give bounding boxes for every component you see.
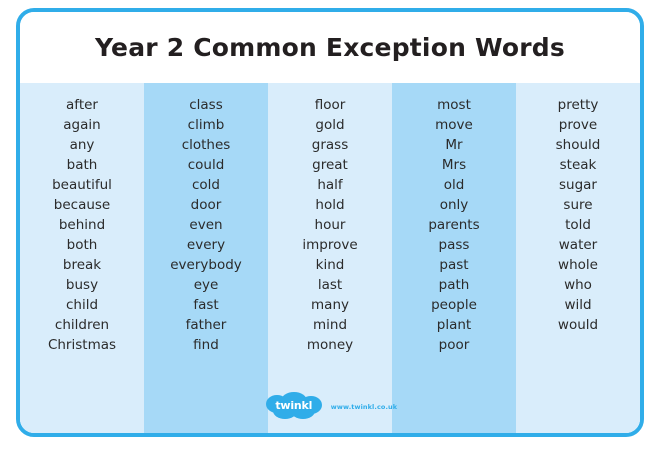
word-column-5: prettyproveshouldsteaksugarsuretoldwater… [516,83,640,433]
word-item: people [392,295,516,315]
word-item: prove [516,115,640,135]
word-item: find [144,335,268,355]
word-item: last [268,275,392,295]
word-item: most [392,95,516,115]
word-item: eye [144,275,268,295]
word-item: mind [268,315,392,335]
title-bar: Year 2 Common Exception Words [20,12,640,83]
word-item: only [392,195,516,215]
word-item: child [20,295,144,315]
word-item: floor [268,95,392,115]
word-item: parents [392,215,516,235]
word-item: money [268,335,392,355]
word-item: children [20,315,144,335]
word-item: great [268,155,392,175]
word-item: poor [392,335,516,355]
word-item: half [268,175,392,195]
word-item: steak [516,155,640,175]
word-item: past [392,255,516,275]
word-item: cold [144,175,268,195]
word-item: path [392,275,516,295]
word-item: wild [516,295,640,315]
word-item: would [516,315,640,335]
word-item: after [20,95,144,115]
word-item: busy [20,275,144,295]
word-item: water [516,235,640,255]
word-item: whole [516,255,640,275]
word-item: kind [268,255,392,275]
word-column-2: classclimbclothescouldcolddooreveneverye… [144,83,268,433]
word-column-3: floorgoldgrassgreathalfholdhourimproveki… [268,83,392,433]
word-item: fast [144,295,268,315]
word-item: hold [268,195,392,215]
word-item: plant [392,315,516,335]
word-item: old [392,175,516,195]
word-item: could [144,155,268,175]
word-item: pretty [516,95,640,115]
word-item: because [20,195,144,215]
word-item: behind [20,215,144,235]
word-item: improve [268,235,392,255]
word-item: beautiful [20,175,144,195]
word-item: who [516,275,640,295]
word-column-4: mostmoveMrMrsoldonlyparentspasspastpathp… [392,83,516,433]
word-columns: afteragainanybathbeautifulbecausebehindb… [20,83,640,433]
poster: Year 2 Common Exception Words afteragain… [16,8,644,437]
word-item: both [20,235,144,255]
word-item: clothes [144,135,268,155]
word-item: bath [20,155,144,175]
word-item: again [20,115,144,135]
word-item: any [20,135,144,155]
word-item: climb [144,115,268,135]
word-item: sure [516,195,640,215]
word-item: hour [268,215,392,235]
word-item: door [144,195,268,215]
word-item: even [144,215,268,235]
word-item: Mr [392,135,516,155]
word-column-1: afteragainanybathbeautifulbecausebehindb… [20,83,144,433]
word-item: father [144,315,268,335]
word-item: grass [268,135,392,155]
word-item: told [516,215,640,235]
word-item: sugar [516,175,640,195]
word-item: everybody [144,255,268,275]
word-item: Christmas [20,335,144,355]
word-item: break [20,255,144,275]
word-item: class [144,95,268,115]
word-item: many [268,295,392,315]
word-item: gold [268,115,392,135]
word-item: move [392,115,516,135]
word-item: should [516,135,640,155]
word-item: pass [392,235,516,255]
word-item: Mrs [392,155,516,175]
page-title: Year 2 Common Exception Words [95,33,565,62]
word-item: every [144,235,268,255]
